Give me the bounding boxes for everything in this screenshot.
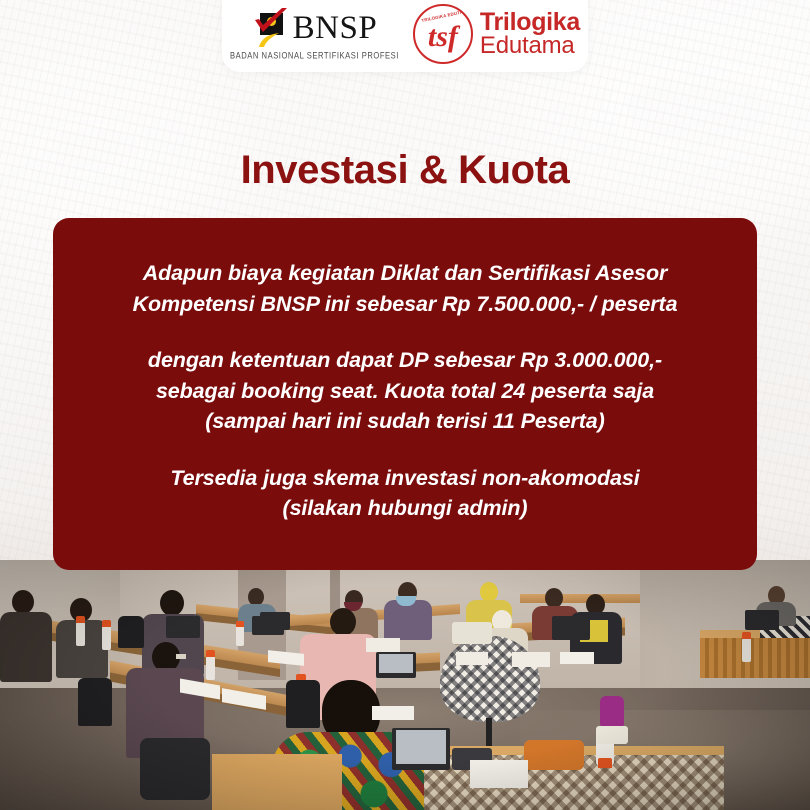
paragraph-dp-kuota: dengan ketentuan dapat DP sebesar Rp 3.0… [87,345,723,437]
trilogika-line2: Edutama [480,34,580,57]
biaya-line-2: Kompetensi BNSP ini sebesar Rp 7.500.000… [133,292,678,316]
bnsp-tagline: BADAN NASIONAL SERTIFIKASI PROFESI [230,50,399,60]
dp-line-2: sebagai booking seat. Kuota total 24 pes… [156,379,654,403]
poster-canvas: BNSP BADAN NASIONAL SERTIFIKASI PROFESI … [0,0,810,810]
trilogika-line1: Trilogika [480,10,580,34]
bnsp-mark-icon [252,8,290,48]
trilogika-edutama-logo: TRILOGIKA EDUTAMA tsf Trilogika Edutama [413,4,580,64]
biaya-line-1: Adapun biaya kegiatan Diklat dan Sertifi… [143,261,668,285]
paragraph-non-akomodasi: Tersedia juga skema investasi non-akomod… [87,463,723,524]
tsf-badge-icon: TRILOGIKA EDUTAMA tsf [413,4,473,64]
bnsp-wordmark: BNSP [293,12,378,45]
seminar-photo [0,560,810,810]
nonakomodasi-line-2: (silakan hubungi admin) [283,496,528,520]
dp-line-3: (sampai hari ini sudah terisi 11 Peserta… [205,409,604,433]
paragraph-gap-2 [87,437,723,463]
investment-info-card: Adapun biaya kegiatan Diklat dan Sertifi… [53,218,757,570]
nonakomodasi-line-1: Tersedia juga skema investasi non-akomod… [170,466,639,490]
tsf-monogram: tsf [428,22,458,52]
dp-line-1: dengan ketentuan dapat DP sebesar Rp 3.0… [148,348,662,372]
bnsp-logo: BNSP BADAN NASIONAL SERTIFIKASI PROFESI [230,8,399,60]
logo-panel: BNSP BADAN NASIONAL SERTIFIKASI PROFESI … [222,0,588,72]
paragraph-biaya: Adapun biaya kegiatan Diklat dan Sertifi… [87,258,723,319]
page-title: Investasi & Kuota [0,148,810,193]
paragraph-gap-1 [87,319,723,345]
